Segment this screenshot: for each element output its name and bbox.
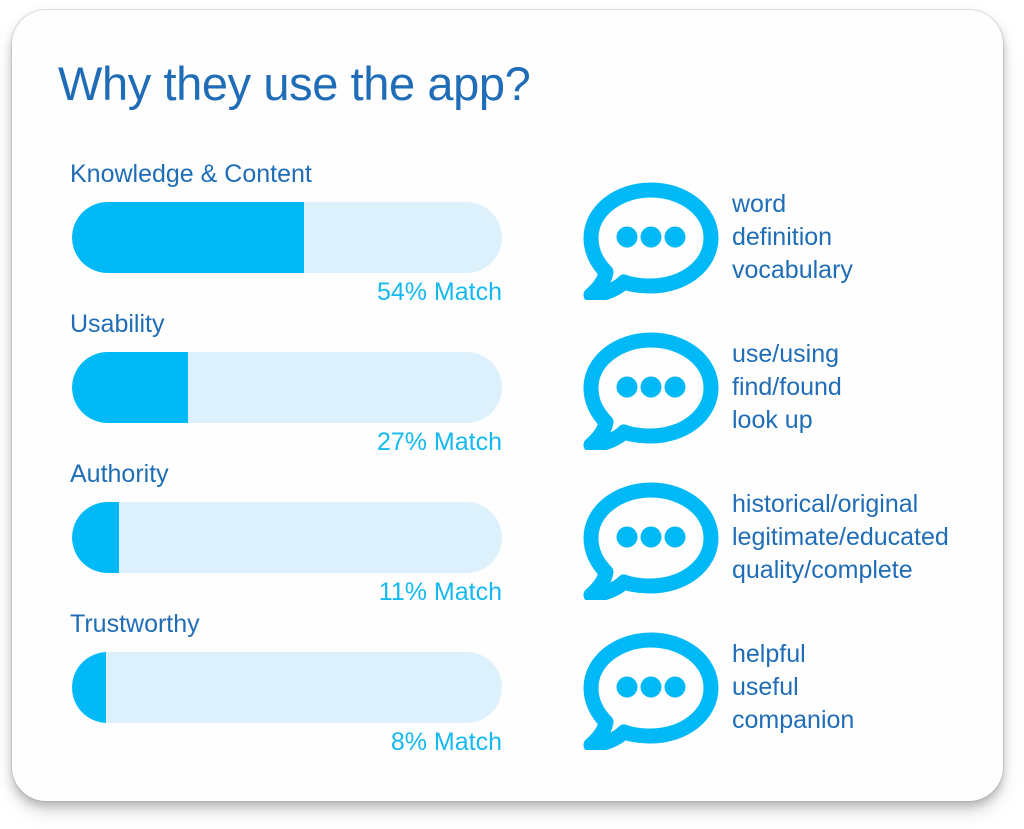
bar-label: Usability bbox=[70, 310, 164, 339]
keyword-item: definition bbox=[732, 221, 853, 254]
keyword-row: historical/original legitimate/educated … bbox=[577, 460, 1024, 610]
keyword-item: companion bbox=[732, 704, 854, 737]
speech-bubble-icon bbox=[577, 332, 725, 450]
keyword-item: useful bbox=[732, 671, 854, 704]
bar-value-label: 27% Match bbox=[72, 428, 502, 457]
keyword-item: historical/original bbox=[732, 488, 949, 521]
bar-row: Usability 27% Match bbox=[12, 310, 532, 460]
bar-row: Knowledge & Content 54% Match bbox=[12, 160, 532, 310]
keyword-item: legitimate/educated bbox=[732, 521, 949, 554]
bar-track bbox=[72, 202, 502, 273]
bar-row: Authority 11% Match bbox=[12, 460, 532, 610]
bar-value-label: 8% Match bbox=[72, 728, 502, 757]
keyword-item: quality/complete bbox=[732, 554, 949, 587]
keyword-item: helpful bbox=[732, 638, 854, 671]
bar-fill bbox=[72, 502, 119, 573]
bar-label: Trustworthy bbox=[70, 610, 200, 639]
speech-bubble-icon bbox=[577, 482, 725, 600]
bar-row: Trustworthy 8% Match bbox=[12, 610, 532, 760]
keyword-list: helpful useful companion bbox=[732, 638, 854, 737]
keyword-row: word definition vocabulary bbox=[577, 160, 1024, 310]
keyword-item: find/found bbox=[732, 371, 842, 404]
keyword-list: use/using find/found look up bbox=[732, 338, 842, 437]
bar-label: Knowledge & Content bbox=[70, 160, 312, 189]
bar-label: Authority bbox=[70, 460, 169, 489]
speech-bubble-icon bbox=[577, 182, 725, 300]
keyword-row: use/using find/found look up bbox=[577, 310, 1024, 460]
infographic-stage: Why they use the app? Knowledge & Conten… bbox=[0, 0, 1024, 829]
infographic-card: Why they use the app? Knowledge & Conten… bbox=[12, 10, 1003, 801]
keyword-item: word bbox=[732, 188, 853, 221]
keyword-item: use/using bbox=[732, 338, 842, 371]
keyword-bubble-list: word definition vocabulary use/using bbox=[577, 160, 1024, 760]
keyword-row: helpful useful companion bbox=[577, 610, 1024, 760]
bar-value-label: 54% Match bbox=[72, 278, 502, 307]
speech-bubble-icon bbox=[577, 632, 725, 750]
bar-fill bbox=[72, 202, 304, 273]
page-title: Why they use the app? bbox=[58, 56, 530, 111]
bar-track bbox=[72, 352, 502, 423]
match-bar-list: Knowledge & Content 54% Match Usability … bbox=[12, 160, 532, 760]
bar-fill bbox=[72, 652, 106, 723]
bar-value-label: 11% Match bbox=[72, 578, 502, 607]
keyword-list: word definition vocabulary bbox=[732, 188, 853, 287]
bar-track bbox=[72, 502, 502, 573]
keyword-item: look up bbox=[732, 404, 842, 437]
bar-track bbox=[72, 652, 502, 723]
bar-fill bbox=[72, 352, 188, 423]
keyword-list: historical/original legitimate/educated … bbox=[732, 488, 949, 587]
keyword-item: vocabulary bbox=[732, 254, 853, 287]
